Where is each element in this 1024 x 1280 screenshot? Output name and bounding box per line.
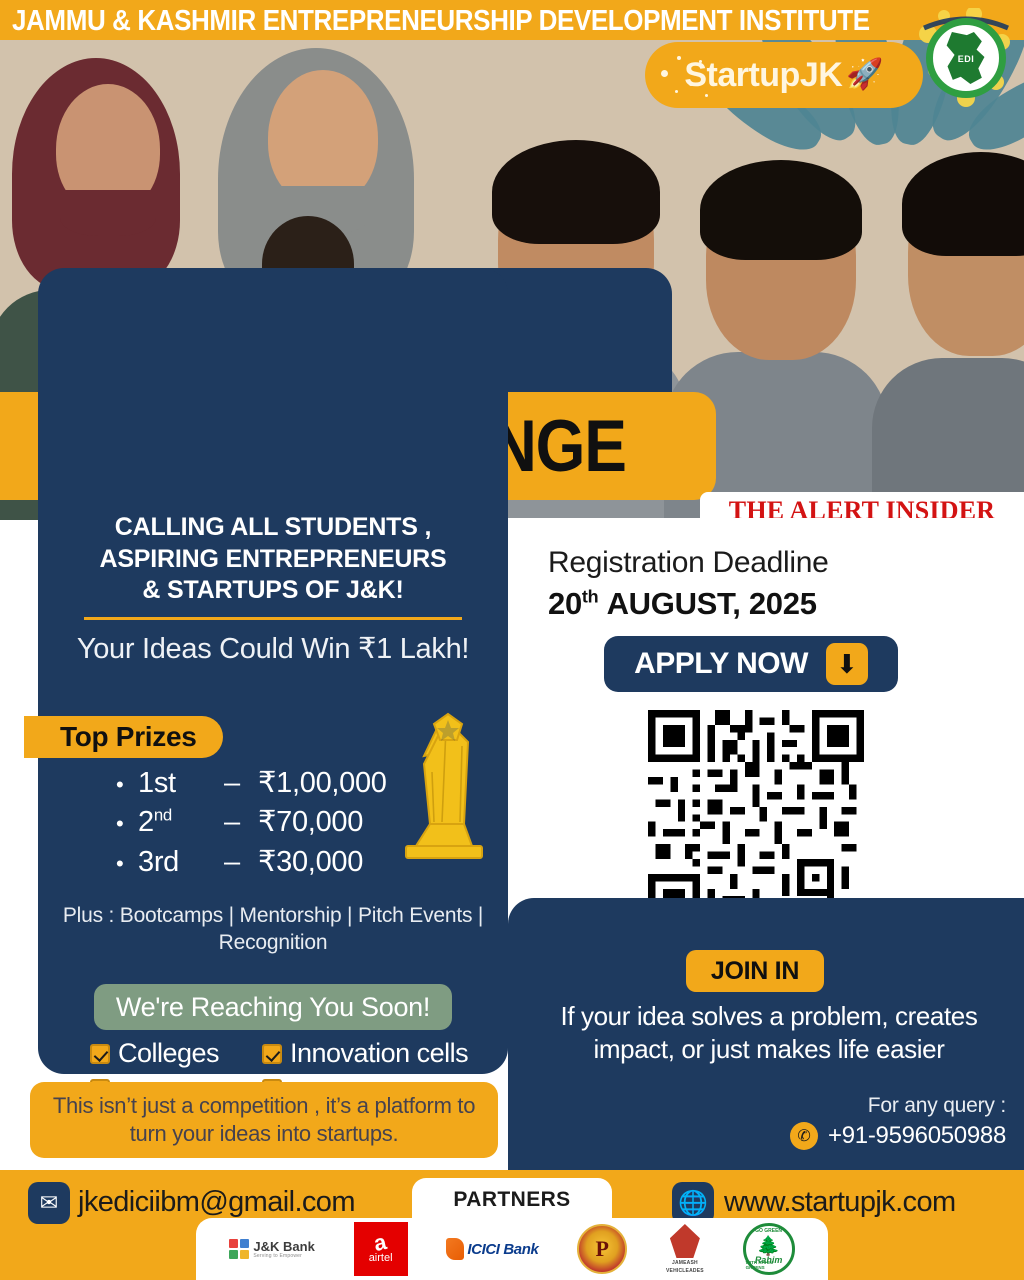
calling-line-1: CALLING ALL STUDENTS , xyxy=(38,512,508,544)
apply-now-button[interactable]: APPLY NOW ⬇ xyxy=(604,636,898,692)
institute-header-bar: JAMMU & KASHMIR ENTREPRENEURSHIP DEVELOP… xyxy=(0,0,1024,40)
join-in-description: If your idea solves a problem, creates i… xyxy=(524,1000,1014,1066)
phone-contact[interactable]: ✆ +91-9596050988 xyxy=(790,1122,1006,1150)
prize-rank: 3rd xyxy=(138,843,224,882)
contact-website[interactable]: www.startupjk.com xyxy=(724,1186,956,1219)
prize-amount: ₹1,00,000 xyxy=(258,764,387,803)
prize-amount: ₹70,000 xyxy=(258,803,363,842)
partner-logo-jameash: JAMEASH VEHICLEADES xyxy=(666,1222,704,1276)
prize-row: • 2nd – ₹70,000 xyxy=(116,803,387,842)
prize-dash: – xyxy=(224,803,258,842)
prize-row: • 3rd – ₹30,000 xyxy=(116,843,387,882)
partner-logo-airtel: a airtel xyxy=(354,1222,408,1276)
partner-top-text: GO GREEN xyxy=(755,1228,782,1234)
join-in-badge: JOIN IN xyxy=(686,950,824,992)
partner-name: JAMEASH xyxy=(672,1260,698,1266)
jameash-mark-icon xyxy=(670,1224,700,1258)
checkbox-checked-icon xyxy=(90,1044,110,1064)
partner-name: ICICI Bank xyxy=(467,1241,538,1258)
phone-icon: ✆ xyxy=(790,1122,818,1150)
registration-deadline-label: Registration Deadline xyxy=(548,546,829,580)
partners-logo-strip: J&K Bank Serving to Empower a airtel ICI… xyxy=(196,1218,828,1280)
partner-name: J&K Bank xyxy=(253,1240,314,1253)
prize-dash: – xyxy=(224,843,258,882)
prize-row: • 1st – ₹1,00,000 xyxy=(116,764,387,803)
rocket-icon: 🚀 xyxy=(846,60,883,90)
edi-logo: EDI xyxy=(916,8,1016,108)
bullet-icon: • xyxy=(116,849,138,879)
airtel-mark-icon: a xyxy=(373,1233,389,1253)
startupjk-badge: StartupJK 🚀 xyxy=(645,42,923,108)
audience-label: Colleges xyxy=(118,1038,219,1069)
tagline-banner: This isn’t just a competition , it’s a p… xyxy=(30,1082,498,1158)
top-prizes-label: Top Prizes xyxy=(60,721,197,753)
jk-bank-mark-icon xyxy=(229,1239,249,1259)
startupjk-label: StartupJK xyxy=(684,56,842,95)
phone-number: +91-9596050988 xyxy=(828,1122,1006,1150)
audience-item-colleges: Colleges xyxy=(90,1038,262,1069)
calling-line-3: & STARTUPS OF J&K! xyxy=(38,575,508,607)
checkbox-checked-icon xyxy=(262,1044,282,1064)
prize-headline: Your Ideas Could Win ₹1 Lakh! xyxy=(38,632,508,666)
trophy-icon xyxy=(372,712,492,872)
bullet-icon: • xyxy=(116,809,138,839)
tree-icon: 🌲 xyxy=(757,1237,781,1256)
partners-tab: PARTNERS xyxy=(412,1178,612,1222)
prize-list: • 1st – ₹1,00,000 • 2nd – ₹70,000 • 3rd … xyxy=(116,764,387,882)
prize-amount: ₹30,000 xyxy=(258,843,363,882)
partner-logo-rahim-greens: GO GREEN 🌲 Rahim WITH RAHIM GREENS xyxy=(743,1222,795,1276)
audience-item-innovation-cells: Innovation cells xyxy=(262,1038,490,1069)
partner-logo-p-emblem: P xyxy=(577,1222,627,1276)
institute-title: JAMMU & KASHMIR ENTREPRENEURSHIP DEVELOP… xyxy=(0,3,870,38)
partner-logo-icici-bank: ICICI Bank xyxy=(446,1222,538,1276)
gold-divider xyxy=(84,617,462,620)
query-label: For any query : xyxy=(868,1094,1006,1118)
prize-rank: 1st xyxy=(138,764,224,803)
contact-email[interactable]: jkediciibm@gmail.com xyxy=(78,1186,355,1219)
gear-icon: EDI xyxy=(926,18,1006,98)
reaching-you-soon-badge: We're Reaching You Soon! xyxy=(94,984,452,1030)
partner-bottom-text: WITH RAHIM GREENS xyxy=(746,1260,792,1270)
partner-tagline: VEHICLEADES xyxy=(666,1268,704,1274)
qr-code[interactable] xyxy=(648,710,864,926)
prize-dash: – xyxy=(224,764,258,803)
calling-line-2: ASPIRING ENTREPRENEURS xyxy=(38,544,508,576)
apply-now-label: APPLY NOW xyxy=(634,647,808,681)
reaching-you-soon-label: We're Reaching You Soon! xyxy=(116,992,430,1023)
partner-logo-jk-bank: J&K Bank Serving to Empower xyxy=(229,1222,314,1276)
join-in-label: JOIN IN xyxy=(711,957,799,986)
bullet-icon: • xyxy=(116,770,138,800)
prize-rank: 2nd xyxy=(138,803,224,842)
edi-abbreviation: EDI xyxy=(958,54,975,64)
extra-benefits-line: Plus : Bootcamps | Mentorship | Pitch Ev… xyxy=(38,902,508,957)
left-content-panel: CALLING ALL STUDENTS , ASPIRING ENTREPRE… xyxy=(38,268,508,1074)
partner-name: P xyxy=(577,1224,627,1274)
partners-label: PARTNERS xyxy=(453,1188,570,1212)
registration-deadline-date: 20th AUGUST, 2025 xyxy=(548,586,817,622)
poster-root: JAMMU & KASHMIR ENTREPRENEURSHIP DEVELOP… xyxy=(0,0,1024,1280)
tagline-text: This isn’t just a competition , it’s a p… xyxy=(44,1092,484,1147)
envelope-icon: ✉ xyxy=(28,1182,70,1224)
top-prizes-badge: Top Prizes xyxy=(24,716,223,758)
down-arrow-icon: ⬇ xyxy=(826,643,868,685)
audience-label: Innovation cells xyxy=(290,1038,468,1069)
icici-mark-icon xyxy=(446,1238,464,1260)
